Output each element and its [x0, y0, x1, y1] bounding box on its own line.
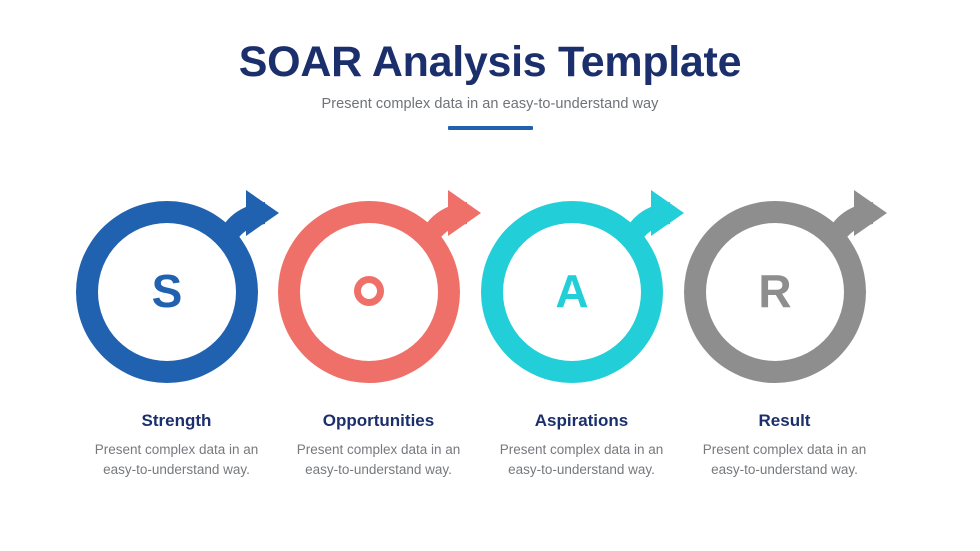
soar-item-opportunities[interactable]: Opportunities Present complex data in an… — [276, 190, 481, 480]
item-caption-opportunities: Opportunities Present complex data in an… — [271, 411, 486, 480]
item-body-result: Present complex data in an easy-to-under… — [677, 440, 892, 479]
item-body-aspirations: Present complex data in an easy-to-under… — [474, 440, 689, 479]
accent-divider — [448, 126, 533, 130]
page-subtitle: Present complex data in an easy-to-under… — [0, 96, 980, 112]
soar-item-aspirations[interactable]: A Aspirations Present complex data in an… — [479, 190, 684, 480]
item-title-result: Result — [677, 411, 892, 431]
item-body-opportunities: Present complex data in an easy-to-under… — [271, 440, 486, 479]
soar-item-strength[interactable]: S Strength Present complex data in an ea… — [74, 190, 279, 480]
item-caption-aspirations: Aspirations Present complex data in an e… — [474, 411, 689, 480]
item-title-aspirations: Aspirations — [474, 411, 689, 431]
item-caption-strength: Strength Present complex data in an easy… — [69, 411, 284, 480]
soar-item-result[interactable]: R Result Present complex data in an easy… — [682, 190, 887, 480]
arrow-head-path-0 — [246, 190, 279, 236]
item-body-strength: Present complex data in an easy-to-under… — [69, 440, 284, 479]
circular-arrow-icon: A — [479, 190, 684, 395]
soar-items-row: S Strength Present complex data in an ea… — [0, 190, 980, 520]
arrow-head-path-2 — [651, 190, 684, 236]
item-title-strength: Strength — [69, 411, 284, 431]
soar-analysis-slide: SOAR Analysis Template Present complex d… — [0, 0, 980, 551]
circular-arrow-icon: R — [682, 190, 887, 395]
circular-arrow-icon: S — [74, 190, 279, 395]
item-title-opportunities: Opportunities — [271, 411, 486, 431]
item-caption-result: Result Present complex data in an easy-t… — [677, 411, 892, 480]
slide-header: SOAR Analysis Template Present complex d… — [0, 38, 980, 130]
page-title: SOAR Analysis Template — [0, 38, 980, 86]
circular-arrow-icon — [276, 190, 481, 395]
arrow-head-path-3 — [854, 190, 887, 236]
arrow-head-path-1 — [448, 190, 481, 236]
